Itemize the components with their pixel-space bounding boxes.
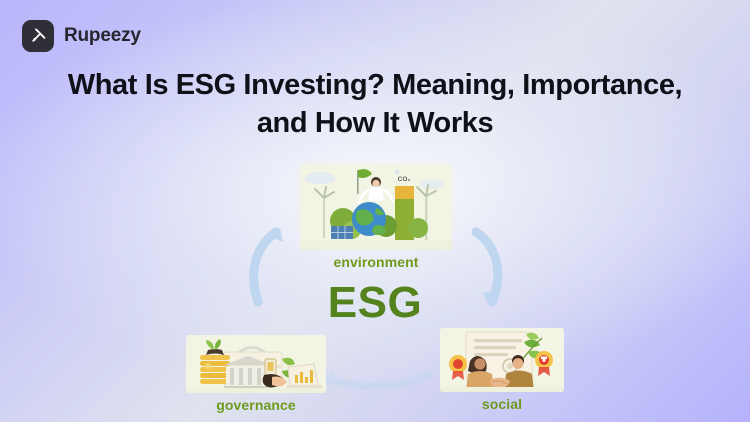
hammer-gavel-icon (22, 20, 54, 52)
governance-scene (186, 335, 326, 393)
arrow-social-to-governance (320, 371, 430, 386)
page-title-line-2: and How It Works (257, 107, 493, 139)
page-title: What Is ESG Investing? Meaning, Importan… (0, 66, 750, 143)
panel-caption-governance: governance (186, 397, 326, 413)
solar-panel-icon (331, 226, 353, 239)
cloud-icon (305, 172, 335, 184)
globe-icon (352, 202, 386, 236)
panel-social[interactable]: social (440, 328, 564, 412)
coin-stack-icon (200, 355, 230, 384)
environment-scene: CO₂ (300, 164, 452, 250)
panel-caption-environment: environment (300, 254, 452, 270)
co2-label: CO₂ (398, 176, 411, 183)
esg-center-label: ESG (0, 278, 750, 328)
page-title-line-1: What Is ESG Investing? Meaning, Importan… (68, 69, 682, 101)
panel-environment[interactable]: CO₂ (300, 164, 452, 270)
governance-illustration (186, 335, 326, 393)
brand-name: Rupeezy (64, 25, 141, 47)
environment-illustration: CO₂ (300, 164, 452, 250)
panel-caption-social: social (440, 396, 564, 412)
esg-cycle-graphic: CO₂ (0, 150, 750, 422)
social-scene (440, 328, 564, 392)
panel-governance[interactable]: governance (186, 335, 326, 413)
social-illustration (440, 328, 564, 392)
tree-icon (408, 218, 428, 238)
brand-logo[interactable]: Rupeezy (22, 20, 141, 52)
